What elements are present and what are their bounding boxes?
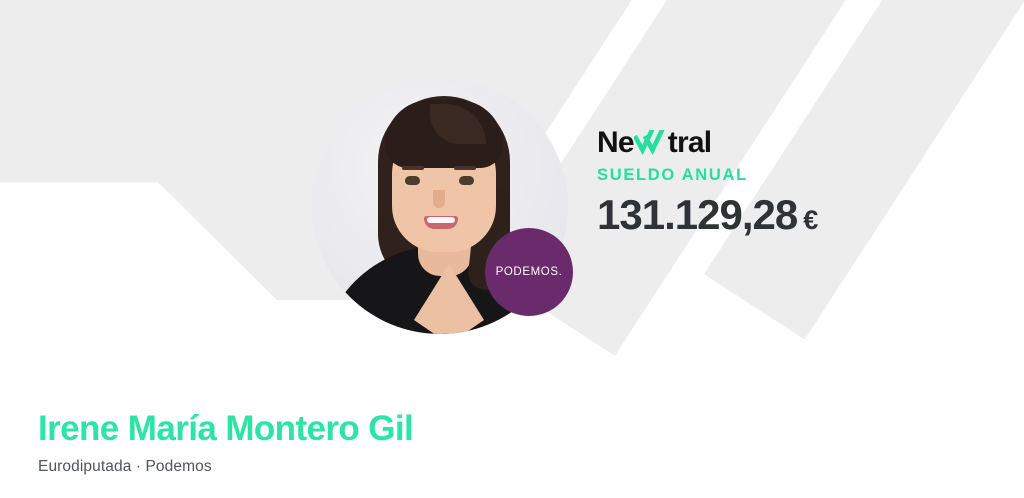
salary-amount: 131.129,28€ xyxy=(597,193,997,237)
portrait-nose xyxy=(433,190,445,208)
page-title: Irene María Montero Gil xyxy=(38,409,738,449)
salary-info-card: PODEMOS. Ne tral SUELDO ANUAL 131.129,28… xyxy=(0,0,1024,498)
salary-amount-value: 131.129,28 xyxy=(597,191,797,238)
portrait-eyebrow xyxy=(454,166,476,170)
brand-name-suffix: tral xyxy=(668,128,712,158)
portrait-eye xyxy=(459,176,474,185)
party-badge: PODEMOS. xyxy=(485,228,573,316)
person-identity: Irene María Montero Gil Eurodiputada · P… xyxy=(38,409,738,476)
portrait-eyebrow xyxy=(402,166,424,170)
portrait-teeth xyxy=(427,217,455,223)
currency-symbol: € xyxy=(803,205,817,235)
brand-name-prefix: Ne xyxy=(597,128,634,158)
newtral-logo: Ne tral xyxy=(597,126,997,160)
party-badge-label: PODEMOS. xyxy=(496,266,563,278)
portrait-eye xyxy=(405,176,420,185)
person-role: Eurodiputada · Podemos xyxy=(38,458,738,476)
double-check-w-icon xyxy=(634,130,668,161)
salary-label: SUELDO ANUAL xyxy=(597,166,997,185)
salary-info-block: Ne tral SUELDO ANUAL 131.129,28€ xyxy=(597,126,997,237)
